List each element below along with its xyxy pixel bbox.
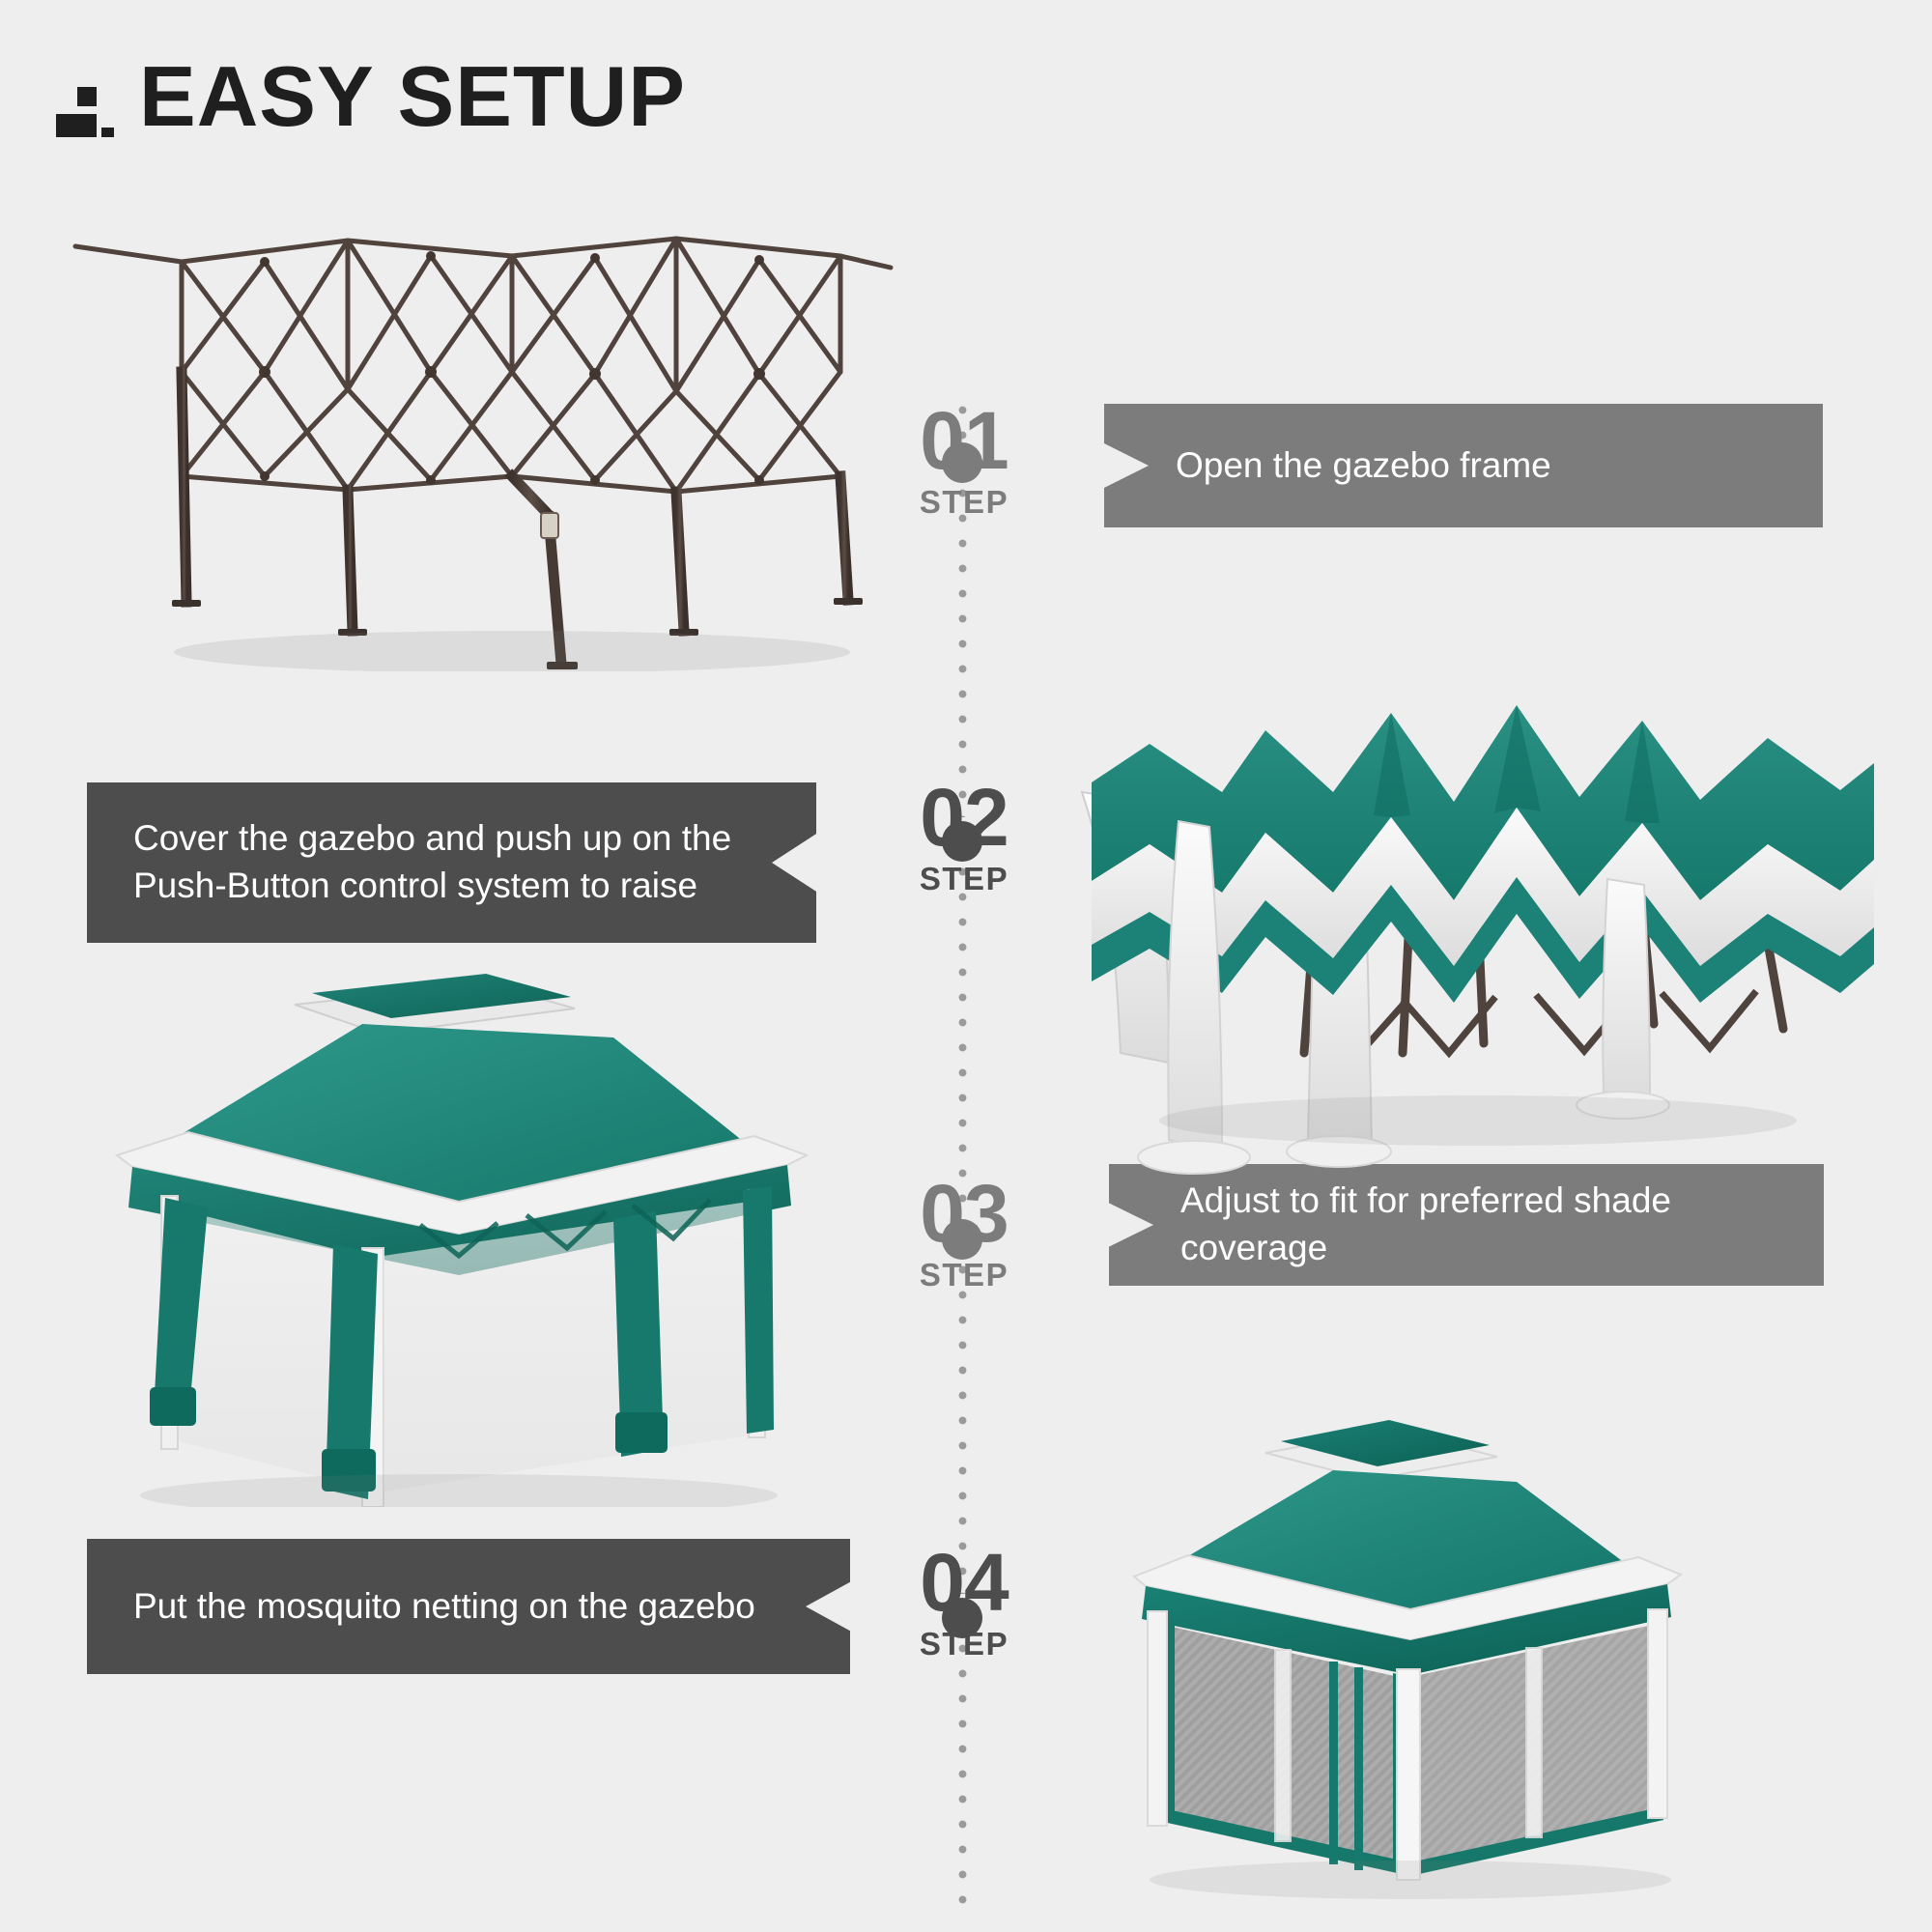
callout-step-02-line-1: Cover the gazebo and push up on the — [133, 815, 731, 863]
logo-blocks-icon — [56, 68, 114, 137]
callout-step-02: Cover the gazebo and push up on the Push… — [87, 782, 816, 943]
page-header: EASY SETUP — [56, 56, 686, 137]
collapsed-frame-photo — [58, 227, 908, 671]
step-number-04: 04 STEP — [858, 1546, 1070, 1662]
infographic-page: EASY SETUP 01 STEP Open the gazebo frame… — [0, 0, 1932, 1932]
step-03-number: 03 — [858, 1177, 1070, 1251]
collapsed-frame-illustration — [58, 227, 908, 671]
erected-gazebo-illustration — [72, 966, 855, 1507]
step-04-number: 04 — [858, 1546, 1070, 1620]
step-03-word: STEP — [858, 1257, 1070, 1293]
page-title: EASY SETUP — [139, 56, 686, 137]
gazebo-with-netting-photo — [1092, 1410, 1758, 1913]
callout-step-04-text: Put the mosquito netting on the gazebo — [133, 1583, 755, 1631]
callout-step-01: Open the gazebo frame — [1104, 404, 1823, 527]
step-timeline-rail — [954, 406, 970, 1913]
callout-step-03-text: Adjust to fit for preferred shade covera… — [1180, 1178, 1777, 1272]
callout-step-01-text: Open the gazebo frame — [1176, 442, 1551, 490]
step-number-03: 03 STEP — [858, 1177, 1070, 1293]
gazebo-netting-illustration — [1092, 1410, 1758, 1913]
draped-canopy-illustration — [1024, 638, 1893, 1179]
callout-step-04: Put the mosquito netting on the gazebo — [87, 1539, 850, 1674]
erected-gazebo-photo — [72, 966, 855, 1507]
step-04-word: STEP — [858, 1626, 1070, 1662]
callout-step-02-line-2: Push-Button control system to raise — [133, 863, 697, 910]
callout-step-03: Adjust to fit for preferred shade covera… — [1109, 1164, 1824, 1286]
draped-canopy-photo — [1024, 638, 1893, 1179]
